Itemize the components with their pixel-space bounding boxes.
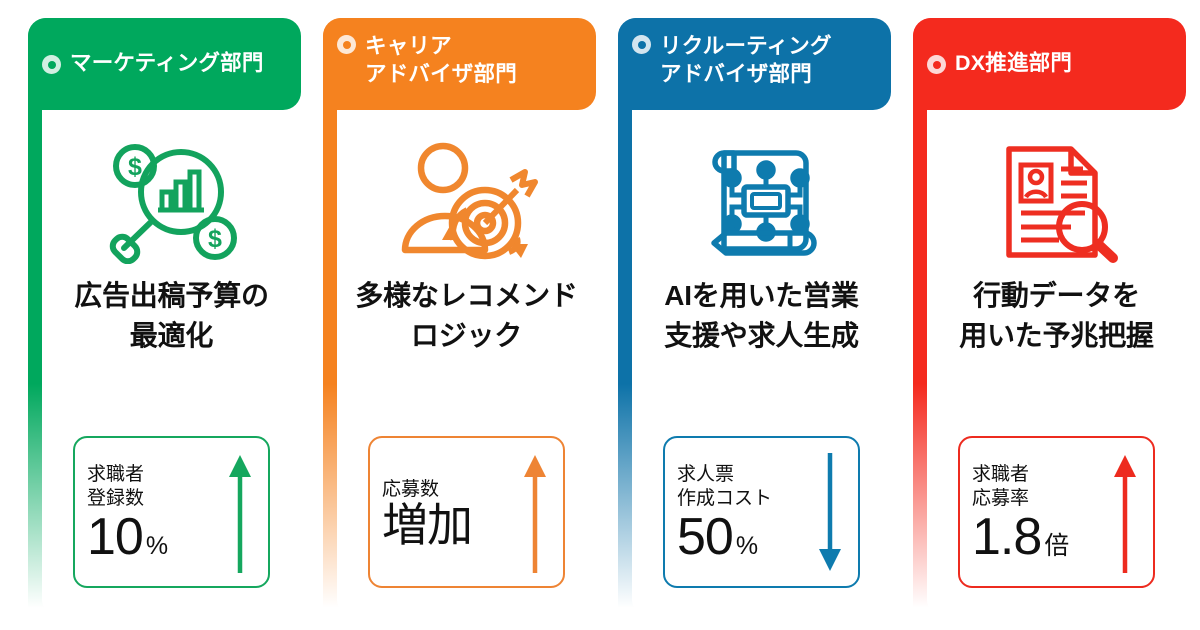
card-header-label: キャリア アドバイザ部門 bbox=[365, 32, 517, 89]
kpi-value: 増加 bbox=[382, 502, 475, 548]
kpi-text: 求職者 登録数 10 % bbox=[87, 448, 220, 578]
kpi-label: 応募数 bbox=[382, 478, 439, 501]
kpi-box-recruiting-advisor: 求人票 作成コスト 50 % bbox=[663, 436, 860, 588]
kpi-label: 求職者 応募率 bbox=[972, 463, 1029, 509]
kpi-text: 応募数 増加 bbox=[382, 448, 515, 578]
kpi-value: 50 % bbox=[677, 511, 758, 563]
card-dx-promotion: DX推進部門 行動 bbox=[899, 18, 1186, 614]
arrow-up-icon bbox=[220, 448, 260, 578]
kpi-number: 1.8 bbox=[972, 511, 1041, 563]
arrow-up-icon bbox=[1105, 448, 1145, 578]
ring-dot-icon bbox=[42, 55, 61, 74]
arrow-down-icon bbox=[810, 448, 850, 578]
card-title: AIを用いた営業 支援や求人生成 bbox=[664, 276, 859, 356]
department-cards-board: マーケティング部門 $ $ 広告出稿予算の 最適化 bbox=[0, 0, 1200, 630]
resume-magnifier-icon bbox=[993, 132, 1121, 272]
magnifier-bar-chart-money-icon: $ $ bbox=[102, 132, 242, 272]
kpi-number: 10 bbox=[87, 511, 143, 563]
kpi-box-dx-promotion: 求職者 応募率 1.8 倍 bbox=[958, 436, 1155, 588]
kpi-value: 10 % bbox=[87, 511, 168, 563]
kpi-box-career-advisor: 応募数 増加 bbox=[368, 436, 565, 588]
card-header-label: マーケティング部門 bbox=[70, 49, 264, 77]
person-target-arrow-icon bbox=[395, 132, 539, 272]
svg-text:$: $ bbox=[128, 153, 142, 181]
ai-document-pencil-icon bbox=[696, 132, 828, 272]
svg-text:$: $ bbox=[208, 225, 222, 253]
kpi-label: 求人票 作成コスト bbox=[677, 463, 772, 509]
card-title: 行動データを 用いた予兆把握 bbox=[959, 276, 1154, 356]
arrow-up-icon bbox=[515, 448, 555, 578]
card-header-dx-promotion: DX推進部門 bbox=[913, 18, 1186, 110]
kpi-text: 求人票 作成コスト 50 % bbox=[677, 448, 810, 578]
kpi-number: 50 bbox=[677, 511, 733, 563]
card-recruiting-advisor: リクルーティング アドバイザ部門 AIを bbox=[604, 18, 891, 614]
card-header-label: DX推進部門 bbox=[955, 49, 1072, 77]
card-body: AIを用いた営業 支援や求人生成 求人票 作成コスト 50 % bbox=[632, 110, 891, 614]
kpi-label: 求職者 登録数 bbox=[87, 463, 144, 509]
card-title: 広告出稿予算の 最適化 bbox=[74, 276, 269, 356]
kpi-unit: 倍 bbox=[1044, 534, 1069, 559]
card-career-advisor: キャリア アドバイザ部門 多様なレコメンド ロジック bbox=[309, 18, 596, 614]
card-title: 多様なレコメンド ロジック bbox=[355, 276, 577, 356]
kpi-text: 求職者 応募率 1.8 倍 bbox=[972, 448, 1105, 578]
card-body: 行動データを 用いた予兆把握 求職者 応募率 1.8 倍 bbox=[927, 110, 1186, 614]
ring-dot-icon bbox=[927, 55, 946, 74]
kpi-value: 1.8 倍 bbox=[972, 511, 1069, 563]
kpi-number: 増加 bbox=[382, 502, 472, 548]
card-header-recruiting-advisor: リクルーティング アドバイザ部門 bbox=[618, 18, 891, 110]
card-header-label: リクルーティング アドバイザ部門 bbox=[660, 32, 832, 89]
card-header-career-advisor: キャリア アドバイザ部門 bbox=[323, 18, 596, 110]
card-body: 多様なレコメンド ロジック 応募数 増加 bbox=[337, 110, 596, 614]
kpi-unit: % bbox=[146, 534, 168, 559]
card-body: $ $ 広告出稿予算の 最適化 求職者 登録数 10 bbox=[42, 110, 301, 614]
ring-dot-icon bbox=[337, 35, 356, 54]
kpi-box-marketing: 求職者 登録数 10 % bbox=[73, 436, 270, 588]
card-header-marketing: マーケティング部門 bbox=[28, 18, 301, 110]
kpi-unit: % bbox=[736, 534, 758, 559]
ring-dot-icon bbox=[632, 35, 651, 54]
card-marketing: マーケティング部門 $ $ 広告出稿予算の 最適化 bbox=[14, 18, 301, 614]
